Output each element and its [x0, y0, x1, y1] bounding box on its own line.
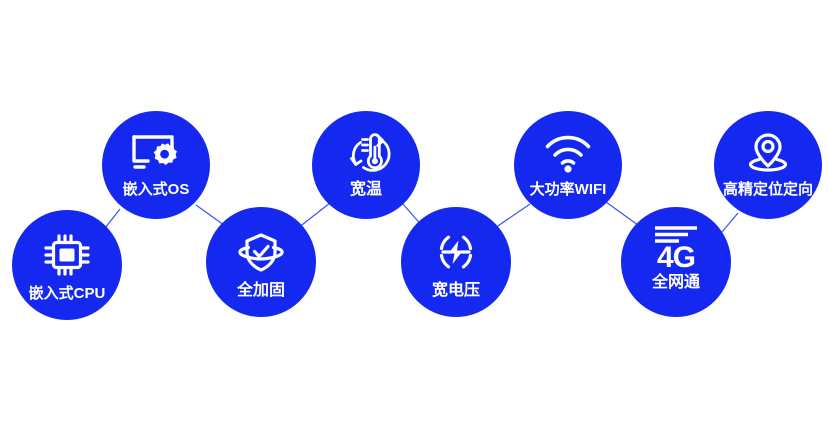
connector-line [298, 203, 330, 228]
monitor-gear-icon [130, 130, 182, 176]
node-wide-voltage[interactable]: 宽电压 [401, 207, 511, 317]
connector-line [105, 209, 120, 228]
connector-line [722, 213, 738, 232]
thermometer-rotation-icon [340, 130, 392, 176]
location-pin-icon [742, 130, 794, 176]
node-label-embedded-os: 嵌入式OS [123, 182, 190, 197]
fourg-caption: 4G [657, 244, 695, 271]
node-label-high-precision-positioning: 高精定位定向 [723, 182, 813, 197]
node-label-embedded-cpu: 嵌入式CPU [29, 286, 106, 301]
node-full-reinforcement[interactable]: 全加固 [206, 207, 316, 317]
node-embedded-os[interactable]: 嵌入式OS [102, 111, 210, 219]
lightning-circle-icon [430, 229, 482, 275]
signal-bars-4g-icon: 4G [652, 225, 700, 271]
node-high-power-wifi[interactable]: 大功率WIFI [514, 111, 622, 219]
node-label-full-reinforcement: 全加固 [237, 283, 285, 299]
node-label-wide-temperature: 宽温 [350, 182, 382, 198]
node-embedded-cpu[interactable]: 嵌入式CPU [12, 210, 122, 320]
node-wide-temperature[interactable]: 宽温 [312, 111, 420, 219]
wifi-icon [542, 130, 594, 176]
node-high-precision-positioning[interactable]: 高精定位定向 [714, 111, 822, 219]
node-label-full-netcom-4g: 全网通 [652, 275, 700, 291]
node-full-netcom-4g[interactable]: 4G 全网通 [621, 207, 731, 317]
shield-check-orbit-icon [235, 229, 287, 275]
cpu-chip-icon [41, 232, 93, 278]
infographic-canvas: 嵌入式CPU 嵌入式OS [0, 0, 828, 448]
node-label-wide-voltage: 宽电压 [432, 283, 480, 299]
node-label-high-power-wifi: 大功率WIFI [530, 182, 607, 197]
